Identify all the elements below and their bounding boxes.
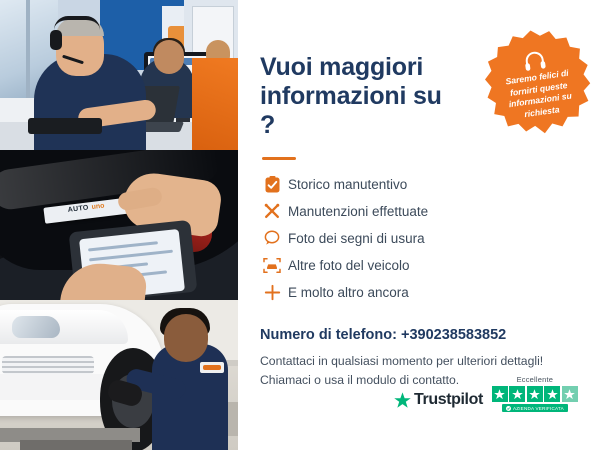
car-grille-decor [2,356,94,374]
orange-panel-decor [192,58,238,150]
photo-column [0,0,238,450]
headset-earcup-decor [50,30,62,50]
title-underline-rule [262,157,296,160]
call-center-operators-photo [0,0,238,150]
feature-label: Storico manutentivo [288,177,407,192]
trustpilot-logo: Trustpilot [394,391,483,409]
rating-stars [492,386,578,402]
star-1 [492,386,508,402]
panel-gap-inspection-tablet-photo [0,150,238,300]
car-lift-base-decor [20,440,132,450]
scan-car-frame-icon [260,254,284,276]
page-title: Vuoi maggiori informazioni su ? [260,53,460,141]
technician-head-decor [164,314,208,362]
trustpilot-star-icon [394,392,411,409]
content-panel: Vuoi maggiori informazioni su ? Storico … [238,0,600,450]
background-person-2-head-decor [154,40,184,74]
technician-wheel-inspection-photo [0,300,238,450]
verified-company-badge: AZIENDA VERIFICATA [502,404,568,412]
callout-badge[interactable]: Saremo felici di fornirti queste informa… [477,23,599,145]
phone-line[interactable]: Numero di telefono: +390238583852 [260,327,578,343]
plus-icon [260,281,284,303]
window-frame-decor [26,0,30,112]
feature-label: Foto dei segni di usura [288,231,425,246]
rating-label: Eccellente [517,375,554,384]
trustpilot-rating: Eccellente [492,375,578,412]
feature-label: E molto altro ancora [288,285,409,300]
star-5-partial [562,386,578,402]
vehicle-info-advert: Vuoi maggiori informazioni su ? Storico … [0,0,600,450]
headlight-decor [12,316,60,338]
star-4 [544,386,560,402]
feature-item-maintenance-done[interactable]: Manutenzioni effettuate [260,198,578,224]
star-2 [509,386,525,402]
trustpilot-block[interactable]: Trustpilot Eccellente [394,375,578,412]
crossed-tools-icon [260,200,284,222]
verified-badge-label: AZIENDA VERIFICATA [513,406,564,411]
feature-label: Manutenzioni effettuate [288,204,428,219]
feature-item-vehicle-photos[interactable]: Altre foto del veicolo [260,252,578,278]
contact-note-line-1: Contattaci in qualsiasi momento per ulte… [260,352,578,371]
trustpilot-brand-label: Trustpilot [414,391,483,409]
verified-check-icon [506,406,511,411]
feature-list: Storico manutentivo Manutenzioni effettu… [260,171,578,305]
star-3 [527,386,543,402]
feature-item-more[interactable]: E molto altro ancora [260,279,578,305]
feature-label: Altre foto del veicolo [288,258,410,273]
uniform-logo-decor [200,362,224,373]
speech-bubble-icon [260,227,284,249]
desk-tablet-decor [28,118,102,134]
feature-item-wear-photos[interactable]: Foto dei segni di usura [260,225,578,251]
clipboard-check-icon [260,173,284,195]
feature-item-service-history[interactable]: Storico manutentivo [260,171,578,197]
headset-band-decor [54,16,100,30]
